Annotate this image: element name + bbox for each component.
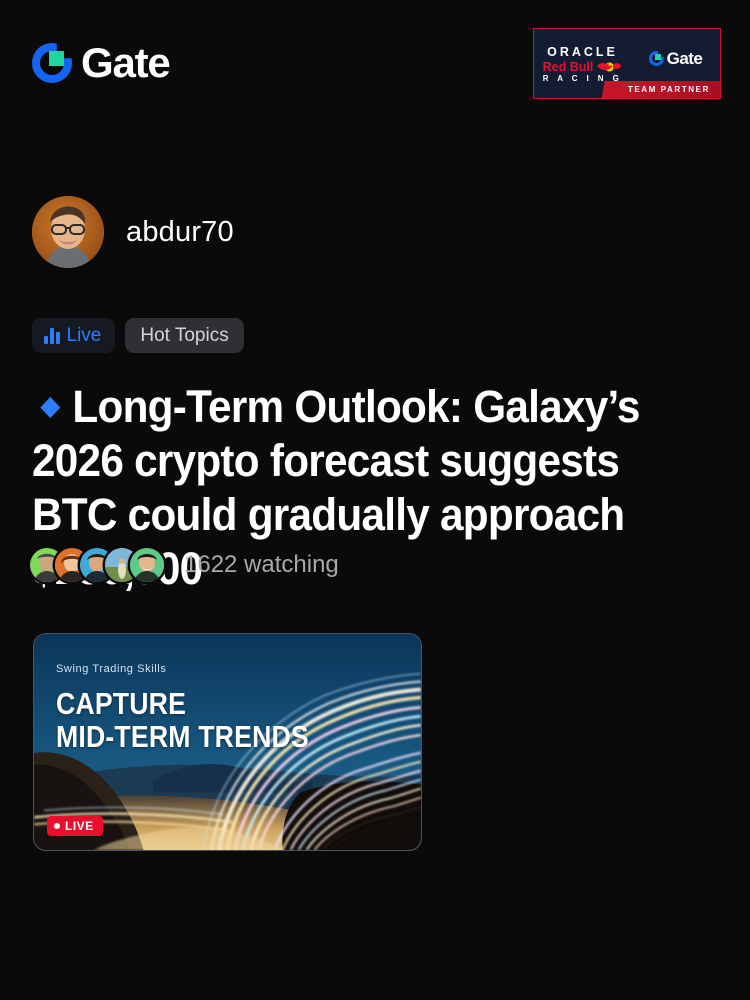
- thumbnail-text-overlay: Swing Trading Skills CAPTURE MID-TERM TR…: [56, 664, 350, 752]
- thumbnail-title-line1: CAPTURE: [56, 689, 309, 719]
- oracle-text: ORACLE: [547, 46, 618, 59]
- watching-row: 1622 watching: [30, 548, 339, 582]
- live-badge[interactable]: Live: [32, 318, 115, 353]
- live-badge-label: Live: [67, 326, 102, 345]
- partner-gate-brand: Gate: [649, 50, 703, 67]
- team-partner-text: TEAM PARTNER: [628, 86, 710, 94]
- hot-topics-badge[interactable]: Hot Topics: [125, 318, 243, 353]
- streamer-identity-row[interactable]: abdur70: [32, 196, 234, 268]
- partner-gate-lockup: Gate TEAM PARTNER: [631, 29, 720, 98]
- thumbnail-live-badge: LIVE: [47, 816, 103, 836]
- thumbnail-kicker: Swing Trading Skills: [56, 664, 350, 675]
- badge-row: Live Hot Topics: [32, 318, 244, 353]
- live-stream-card-page: Gate ORACLE Red Bull R A C I N G: [0, 0, 750, 1000]
- brand-name: Gate: [81, 42, 170, 84]
- oracle-red-bull-racing-partner-badge[interactable]: ORACLE Red Bull R A C I N G Gate: [533, 28, 721, 99]
- watching-count: 1622 watching: [184, 553, 339, 577]
- bar-chart-icon: [44, 328, 60, 344]
- team-partner-ribbon: TEAM PARTNER: [595, 81, 720, 98]
- gate-brand-logo[interactable]: Gate: [32, 42, 170, 84]
- red-bull-text: Red Bull: [543, 61, 594, 74]
- gate-logo-icon: [649, 51, 664, 66]
- user-avatar-photo[interactable]: [32, 196, 104, 268]
- username: abdur70: [126, 218, 234, 247]
- red-bull-row: Red Bull: [543, 60, 623, 73]
- partner-gate-name: Gate: [667, 50, 703, 67]
- watcher-avatar-stack[interactable]: [30, 548, 164, 582]
- page-header: Gate ORACLE Red Bull R A C I N G: [0, 0, 750, 120]
- watcher-avatar-5: [130, 548, 164, 582]
- gate-logo-icon: [32, 43, 72, 83]
- red-bull-icon: [596, 60, 622, 73]
- live-dot-icon: [54, 823, 60, 829]
- blue-diamond-bullet-icon: [40, 397, 60, 418]
- thumbnail-title-line2: MID-TERM TRENDS: [56, 722, 309, 752]
- stream-thumbnail-card[interactable]: Swing Trading Skills CAPTURE MID-TERM TR…: [33, 633, 422, 851]
- thumbnail-live-label: LIVE: [65, 820, 94, 832]
